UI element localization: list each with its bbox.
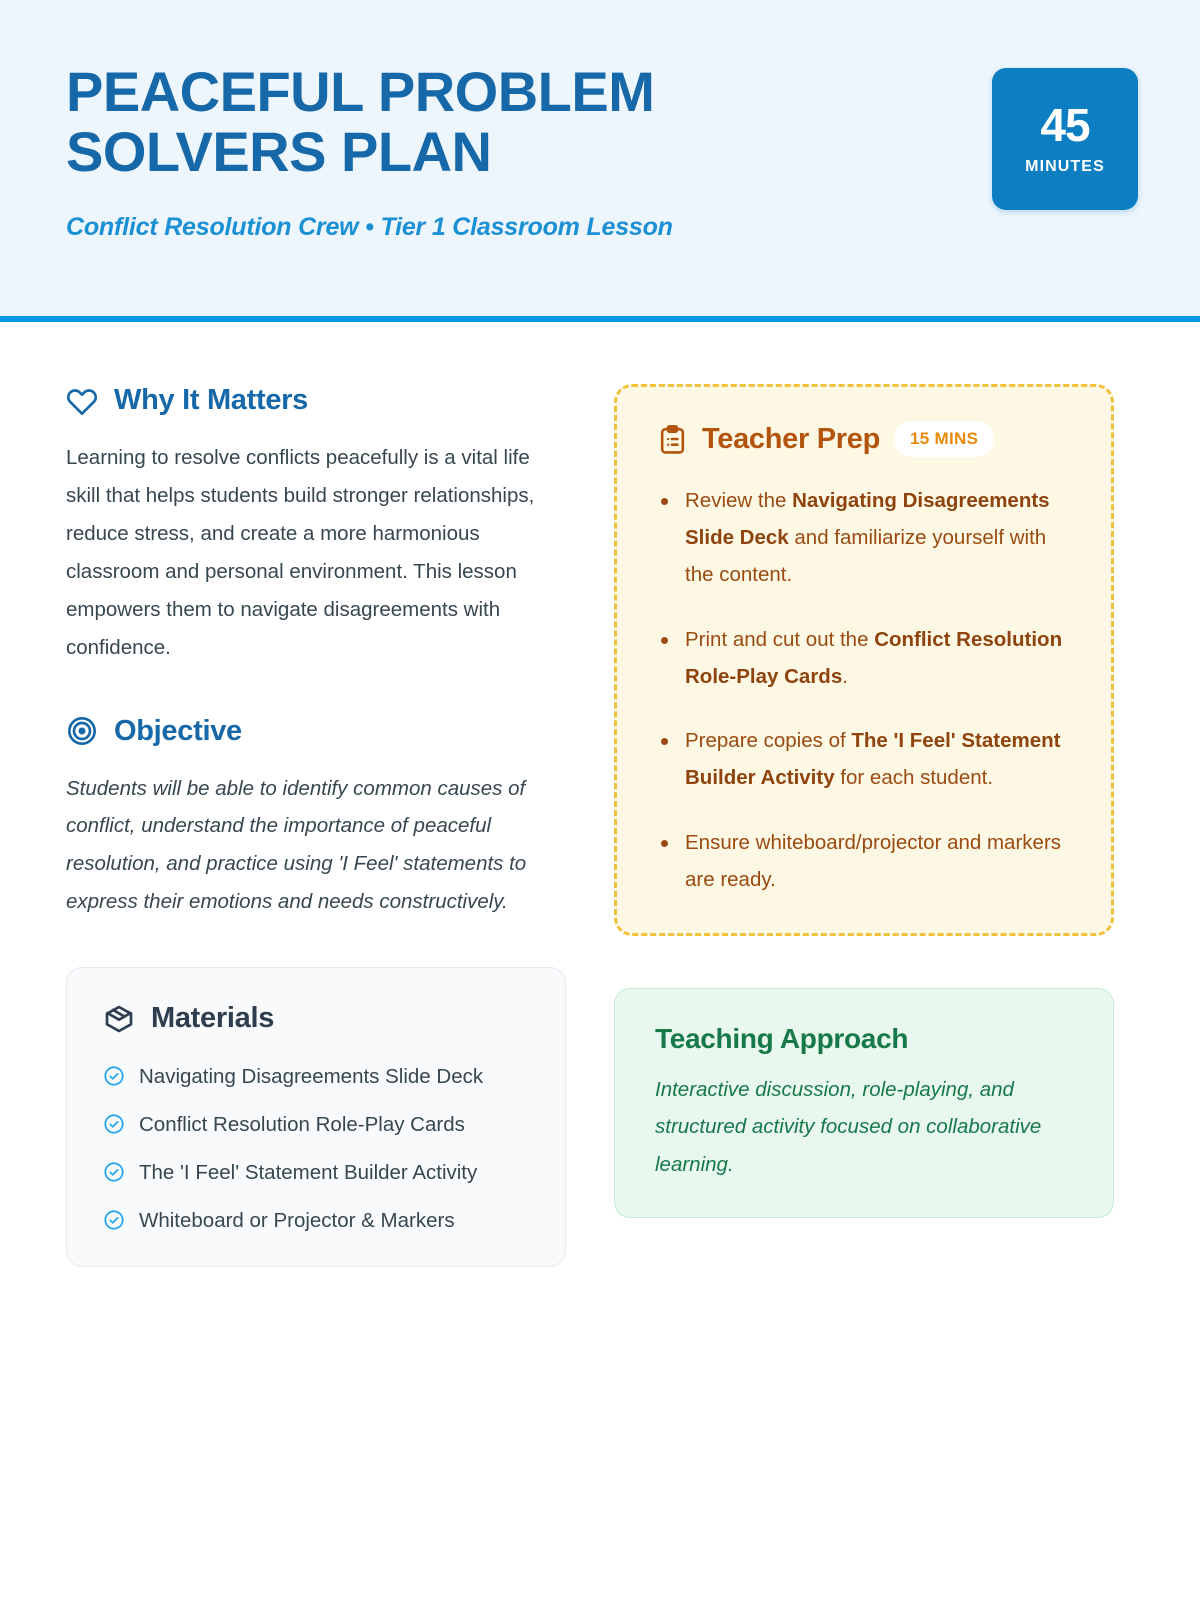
teacher-prep-list: Review the Navigating Disagreements Slid… [657, 483, 1077, 899]
material-label: The 'I Feel' Statement Builder Activity [139, 1157, 477, 1189]
materials-card: Materials Navigating Disagreements Slide… [66, 967, 566, 1267]
why-it-matters-section: Why It Matters Learning to resolve confl… [66, 384, 566, 667]
list-item: The 'I Feel' Statement Builder Activity [103, 1157, 529, 1189]
prep-text-post: for each student. [835, 766, 993, 789]
teacher-prep-heading-row: Teacher Prep 15 MINS [657, 421, 1077, 457]
list-item: Prepare copies of The 'I Feel' Statement… [657, 723, 1077, 797]
why-it-matters-heading-row: Why It Matters [66, 384, 566, 417]
prep-text-pre: Print and cut out the [685, 628, 874, 651]
objective-body: Students will be able to identify common… [66, 770, 566, 922]
circle-check-icon [103, 1065, 125, 1087]
page-subtitle: Conflict Resolution Crew • Tier 1 Classr… [66, 213, 826, 242]
teaching-approach-title: Teaching Approach [655, 1023, 1077, 1055]
teacher-prep-card: Teacher Prep 15 MINS Review the Navigati… [614, 384, 1114, 936]
material-label: Conflict Resolution Role-Play Cards [139, 1109, 465, 1141]
prep-text-pre: Ensure whiteboard/projector and markers … [685, 831, 1061, 891]
prep-text-pre: Review the [685, 489, 792, 512]
page-header: Peaceful Problem Solvers Plan Conflict R… [0, 0, 1200, 322]
list-item: Print and cut out the Conflict Resolutio… [657, 622, 1077, 696]
material-label: Navigating Disagreements Slide Deck [139, 1061, 483, 1093]
circle-check-icon [103, 1161, 125, 1183]
teaching-approach-card: Teaching Approach Interactive discussion… [614, 988, 1114, 1218]
material-label: Whiteboard or Projector & Markers [139, 1205, 455, 1237]
why-it-matters-title: Why It Matters [114, 384, 308, 417]
objective-title: Objective [114, 715, 242, 748]
materials-heading-row: Materials [103, 1002, 529, 1035]
list-item: Ensure whiteboard/projector and markers … [657, 825, 1077, 899]
clipboard-list-icon [657, 424, 688, 455]
content-area: Why It Matters Learning to resolve confl… [0, 322, 1200, 1267]
list-item: Review the Navigating Disagreements Slid… [657, 483, 1077, 594]
prep-text-pre: Prepare copies of [685, 729, 851, 752]
right-column: Teacher Prep 15 MINS Review the Navigati… [614, 384, 1114, 1267]
header-text-group: Peaceful Problem Solvers Plan Conflict R… [66, 62, 826, 242]
circle-check-icon [103, 1209, 125, 1231]
target-icon [66, 715, 98, 747]
teacher-prep-duration-badge: 15 MINS [894, 421, 994, 457]
page-title: Peaceful Problem Solvers Plan [66, 62, 826, 183]
materials-title: Materials [151, 1002, 274, 1035]
list-item: Navigating Disagreements Slide Deck [103, 1061, 529, 1093]
duration-unit: MINUTES [1025, 158, 1105, 176]
duration-value: 45 [1040, 102, 1089, 148]
prep-text-post: . [842, 665, 848, 688]
objective-section: Objective Students will be able to ident… [66, 715, 566, 922]
left-column: Why It Matters Learning to resolve confl… [66, 384, 566, 1267]
duration-badge: 45 MINUTES [992, 68, 1138, 210]
package-icon [103, 1003, 135, 1035]
list-item: Conflict Resolution Role-Play Cards [103, 1109, 529, 1141]
circle-check-icon [103, 1113, 125, 1135]
heart-icon [66, 385, 98, 417]
teaching-approach-body: Interactive discussion, role-playing, an… [655, 1071, 1077, 1183]
objective-heading-row: Objective [66, 715, 566, 748]
teacher-prep-title: Teacher Prep [702, 423, 880, 456]
list-item: Whiteboard or Projector & Markers [103, 1205, 529, 1237]
why-it-matters-body: Learning to resolve conflicts peacefully… [66, 439, 566, 667]
lesson-plan-page: Peaceful Problem Solvers Plan Conflict R… [0, 0, 1200, 1600]
materials-list: Navigating Disagreements Slide Deck Conf… [103, 1061, 529, 1236]
